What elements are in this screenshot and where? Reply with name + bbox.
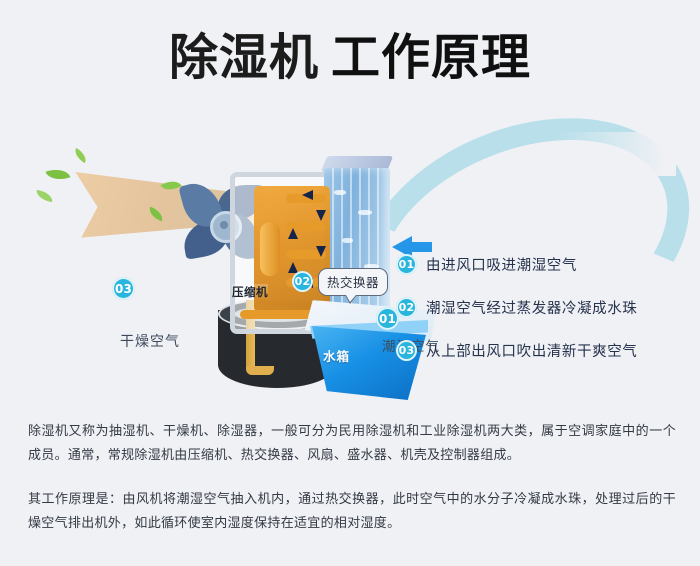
- dry-air-label: 干燥空气: [120, 331, 180, 351]
- page-title: 除湿机工作原理: [0, 33, 700, 82]
- dry-air-badge-wrap: 03: [112, 277, 135, 300]
- description-paragraph-2: 其工作原理是：由风机将潮湿空气抽入机内，通过热交换器，此时空气中的水分子冷凝成水…: [28, 488, 676, 536]
- leaf-icon: [72, 148, 89, 163]
- legend-item-01: 01 由进风口吸进潮湿空气: [396, 253, 681, 275]
- mist-particle: [358, 210, 372, 215]
- legend-badge-03: 03: [396, 340, 417, 361]
- description-paragraph-1: 除湿机又称为抽湿机、干燥机、除湿器，一般可分为民用除湿机和工业除湿机两大类，属于…: [28, 420, 676, 468]
- flow-arrow-down-icon: [316, 210, 326, 221]
- water-tank-label: 水箱: [323, 346, 350, 365]
- flow-arrow-down-icon: [316, 246, 326, 257]
- flow-arrow-left-icon: [302, 190, 313, 200]
- accumulator-cylinder: [260, 222, 280, 276]
- heat-exchanger-callout: 热交换器: [318, 268, 388, 296]
- infographic-page: 除湿机工作原理: [0, 0, 700, 566]
- legend-badge-01: 01: [396, 254, 417, 275]
- legend-list: 01 由进风口吸进潮湿空气 02 潮湿空气经过蒸发器冷凝成水珠 03 从上部出风…: [396, 253, 681, 361]
- page-title-part2: 工作原理: [331, 33, 531, 82]
- leaf-icon: [46, 165, 71, 184]
- page-title-part1: 除湿机: [169, 33, 319, 82]
- legend-text-03: 从上部出风口吹出清新干爽空气: [426, 340, 637, 361]
- mist-particle: [342, 238, 353, 243]
- legend-badge-02: 02: [396, 297, 417, 318]
- leaf-icon: [35, 190, 53, 202]
- heat-exchanger-badge: 02: [292, 271, 313, 292]
- compressor-label: 压缩机: [232, 284, 268, 300]
- mist-particle: [334, 190, 346, 195]
- description-block: 除湿机又称为抽湿机、干燥机、除湿器，一般可分为民用除湿机和工业除湿机两大类，属于…: [28, 420, 676, 536]
- legend-item-03: 03 从上部出风口吹出清新干爽空气: [396, 339, 681, 361]
- humid-air-flow-fade: [556, 132, 676, 176]
- legend-item-02: 02 潮湿空气经过蒸发器冷凝成水珠: [396, 296, 681, 318]
- legend-text-02: 潮湿空气经过蒸发器冷凝成水珠: [426, 297, 637, 318]
- air-intake-arrow-tail: [410, 242, 432, 252]
- heat-exchanger-badge-wrap: 02: [292, 270, 313, 292]
- flow-arrow-up-icon: [288, 228, 298, 239]
- drain-pipe-bend: [246, 366, 274, 375]
- dry-air-badge: 03: [112, 277, 135, 300]
- legend-text-01: 由进风口吸进潮湿空气: [426, 254, 577, 275]
